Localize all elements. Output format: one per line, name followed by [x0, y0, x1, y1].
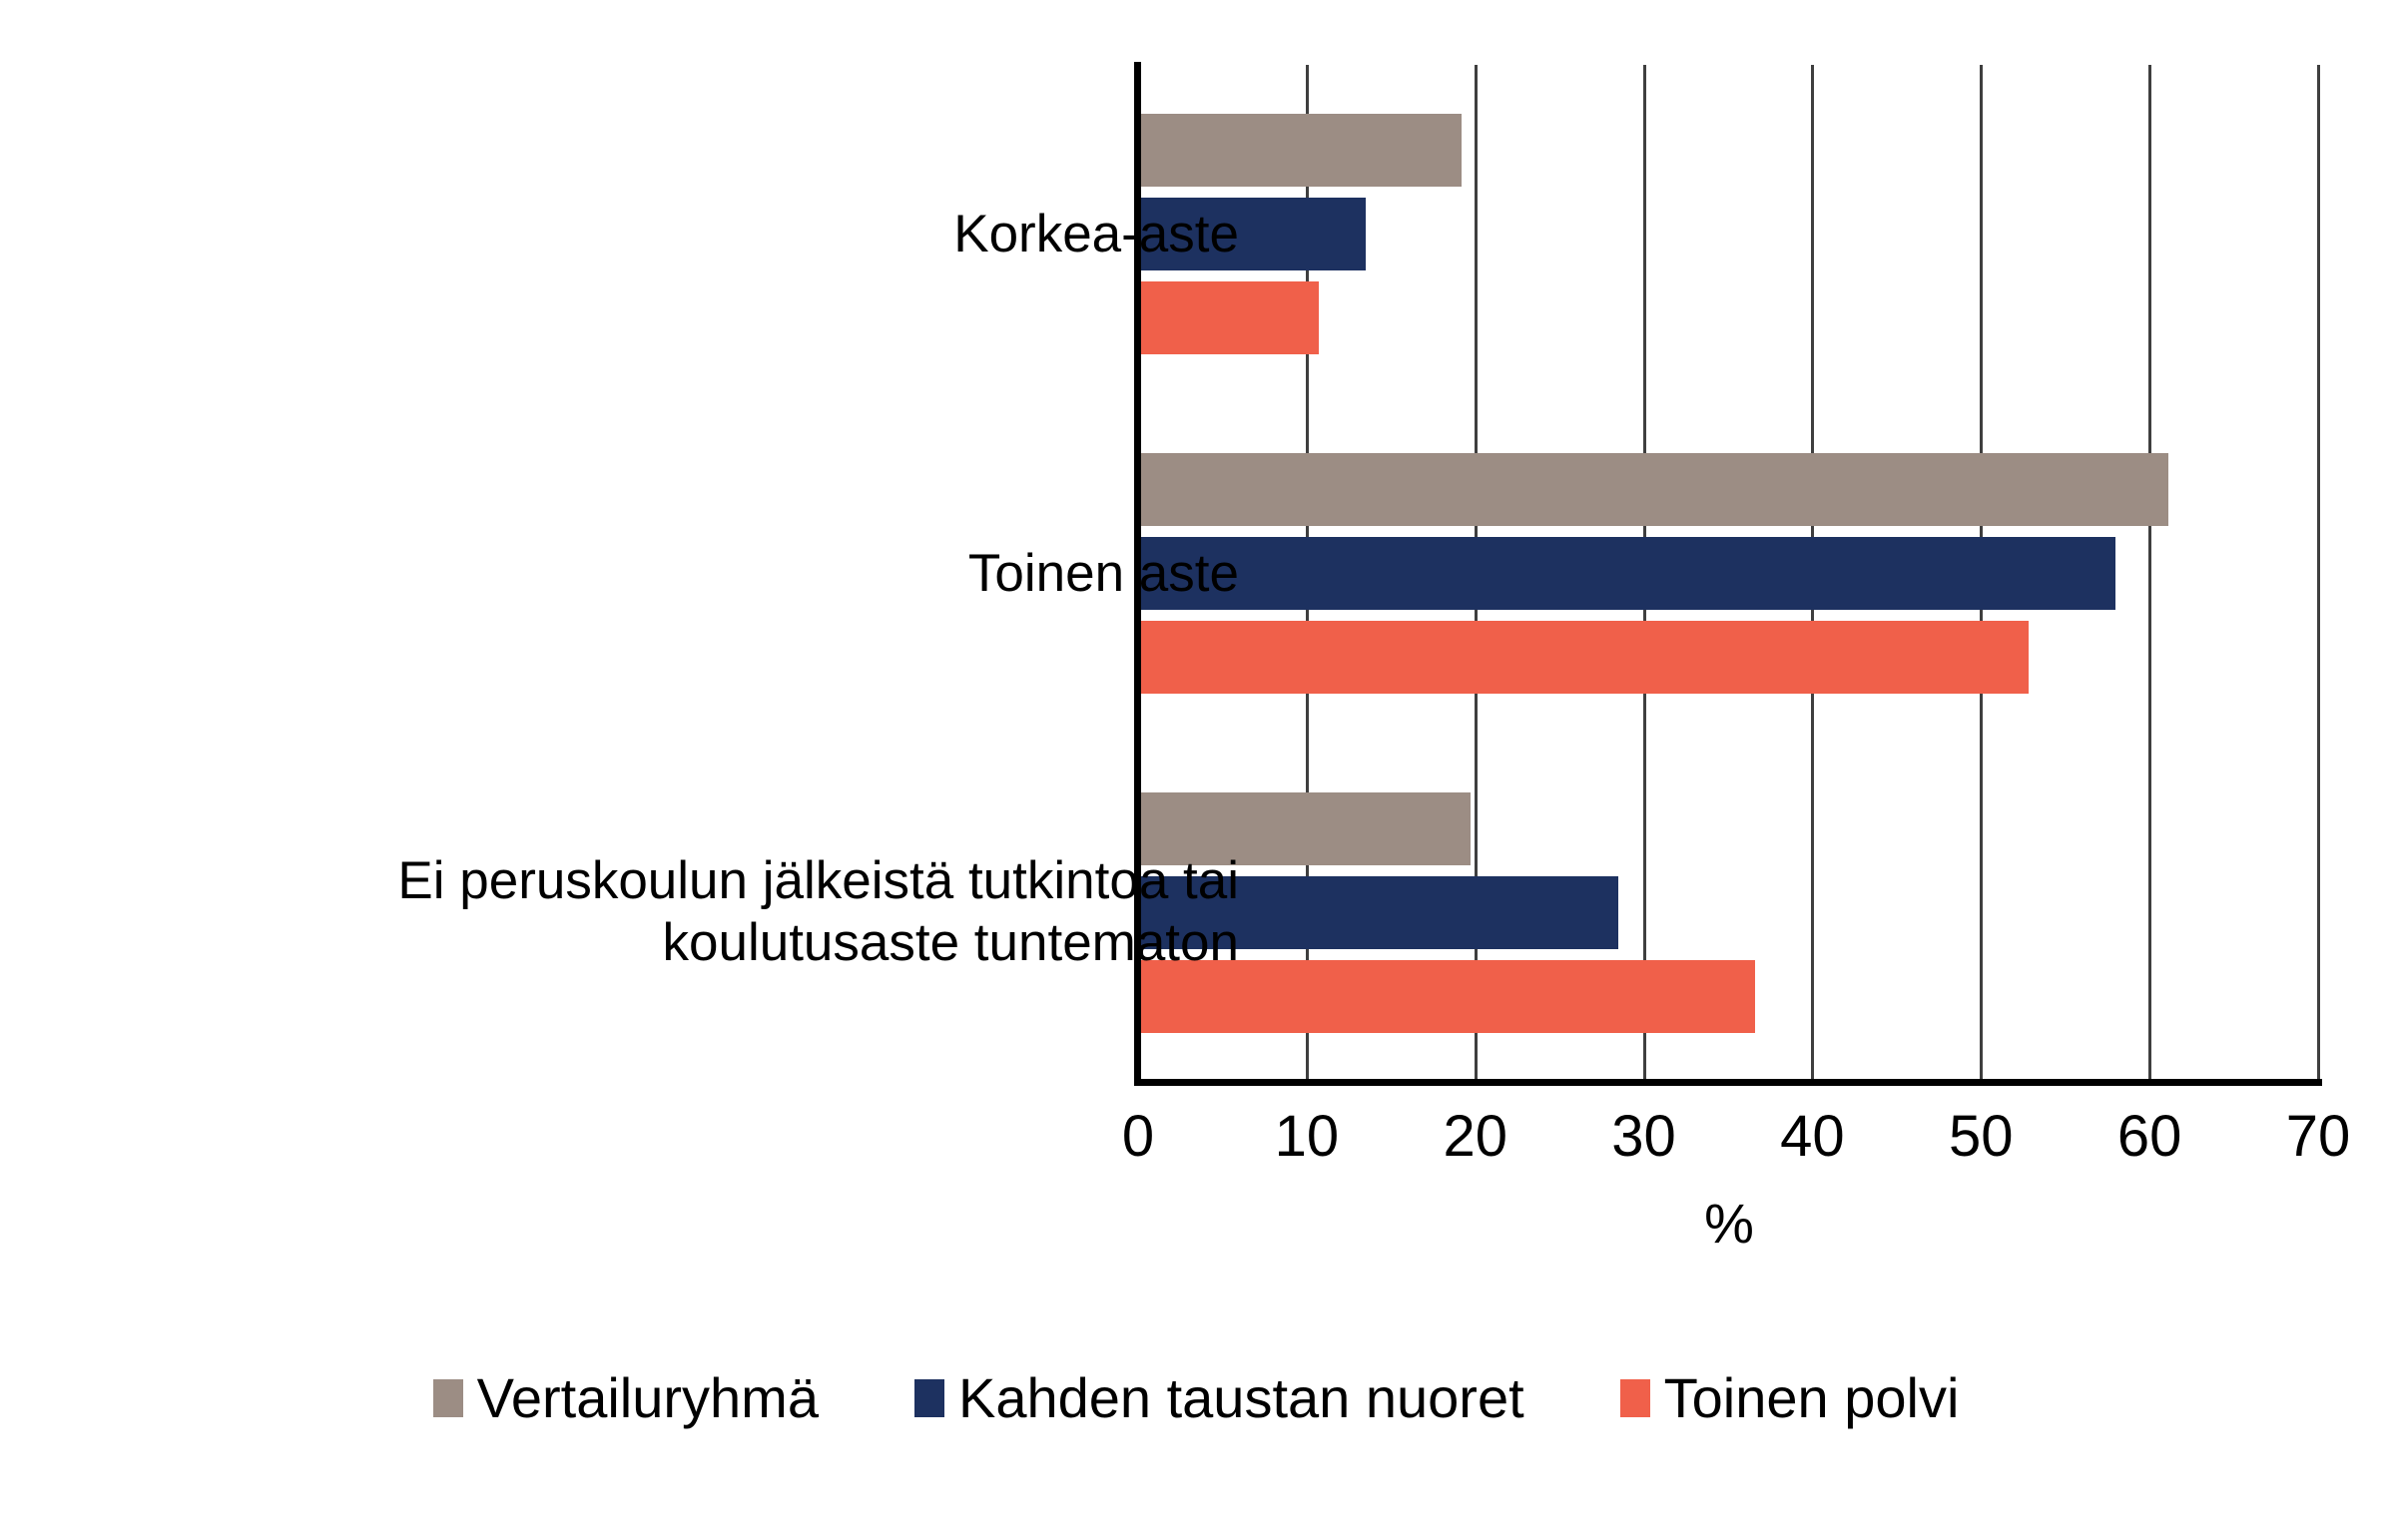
x-tick-60: 60 — [2090, 1108, 2209, 1166]
bar — [1138, 537, 2115, 610]
legend-label: Toinen polvi — [1664, 1369, 1960, 1427]
bar — [1138, 281, 1319, 354]
category-label: Ei peruskoulun jälkeistä tutkintoa taiko… — [397, 850, 1239, 974]
x-axis-line — [1134, 1079, 2322, 1086]
category-label-line: Ei peruskoulun jälkeistä tutkintoa tai — [397, 850, 1239, 912]
legend-item[interactable]: Toinen polvi — [1620, 1369, 1960, 1427]
category-label: Korkea-aste — [953, 204, 1239, 265]
bar — [1138, 453, 2168, 526]
bar — [1138, 114, 1462, 187]
chart-legend: VertailuryhmäKahden taustan nuoretToinen… — [0, 1369, 2392, 1427]
x-tick-70: 70 — [2258, 1108, 2378, 1166]
legend-swatch-navy-icon — [914, 1379, 944, 1417]
x-tick-50: 50 — [1921, 1108, 2041, 1166]
bar-chart: Korkea-asteToinen asteEi peruskoulun jäl… — [0, 0, 2392, 1540]
x-tick-20: 20 — [1416, 1108, 1535, 1166]
category-label: Toinen aste — [968, 543, 1239, 605]
legend-swatch-orange-icon — [1620, 1379, 1650, 1417]
bar-group — [1138, 114, 2318, 354]
bar — [1138, 621, 2029, 694]
category-label-line: Korkea-aste — [953, 204, 1239, 265]
legend-item[interactable]: Kahden taustan nuoret — [914, 1369, 1524, 1427]
x-tick-40: 40 — [1752, 1108, 1872, 1166]
legend-swatch-gray-icon — [433, 1379, 463, 1417]
legend-label: Vertailuryhmä — [477, 1369, 819, 1427]
x-tick-30: 30 — [1584, 1108, 1704, 1166]
category-label-line: koulutusaste tuntematon — [397, 912, 1239, 974]
x-tick-0: 0 — [1078, 1108, 1198, 1166]
legend-item[interactable]: Vertailuryhmä — [433, 1369, 819, 1427]
legend-label: Kahden taustan nuoret — [958, 1369, 1524, 1427]
x-axis-title: % — [1669, 1191, 1789, 1256]
x-tick-10: 10 — [1247, 1108, 1367, 1166]
bar-group — [1138, 453, 2318, 694]
category-label-line: Toinen aste — [968, 543, 1239, 605]
bar-group — [1138, 792, 2318, 1033]
